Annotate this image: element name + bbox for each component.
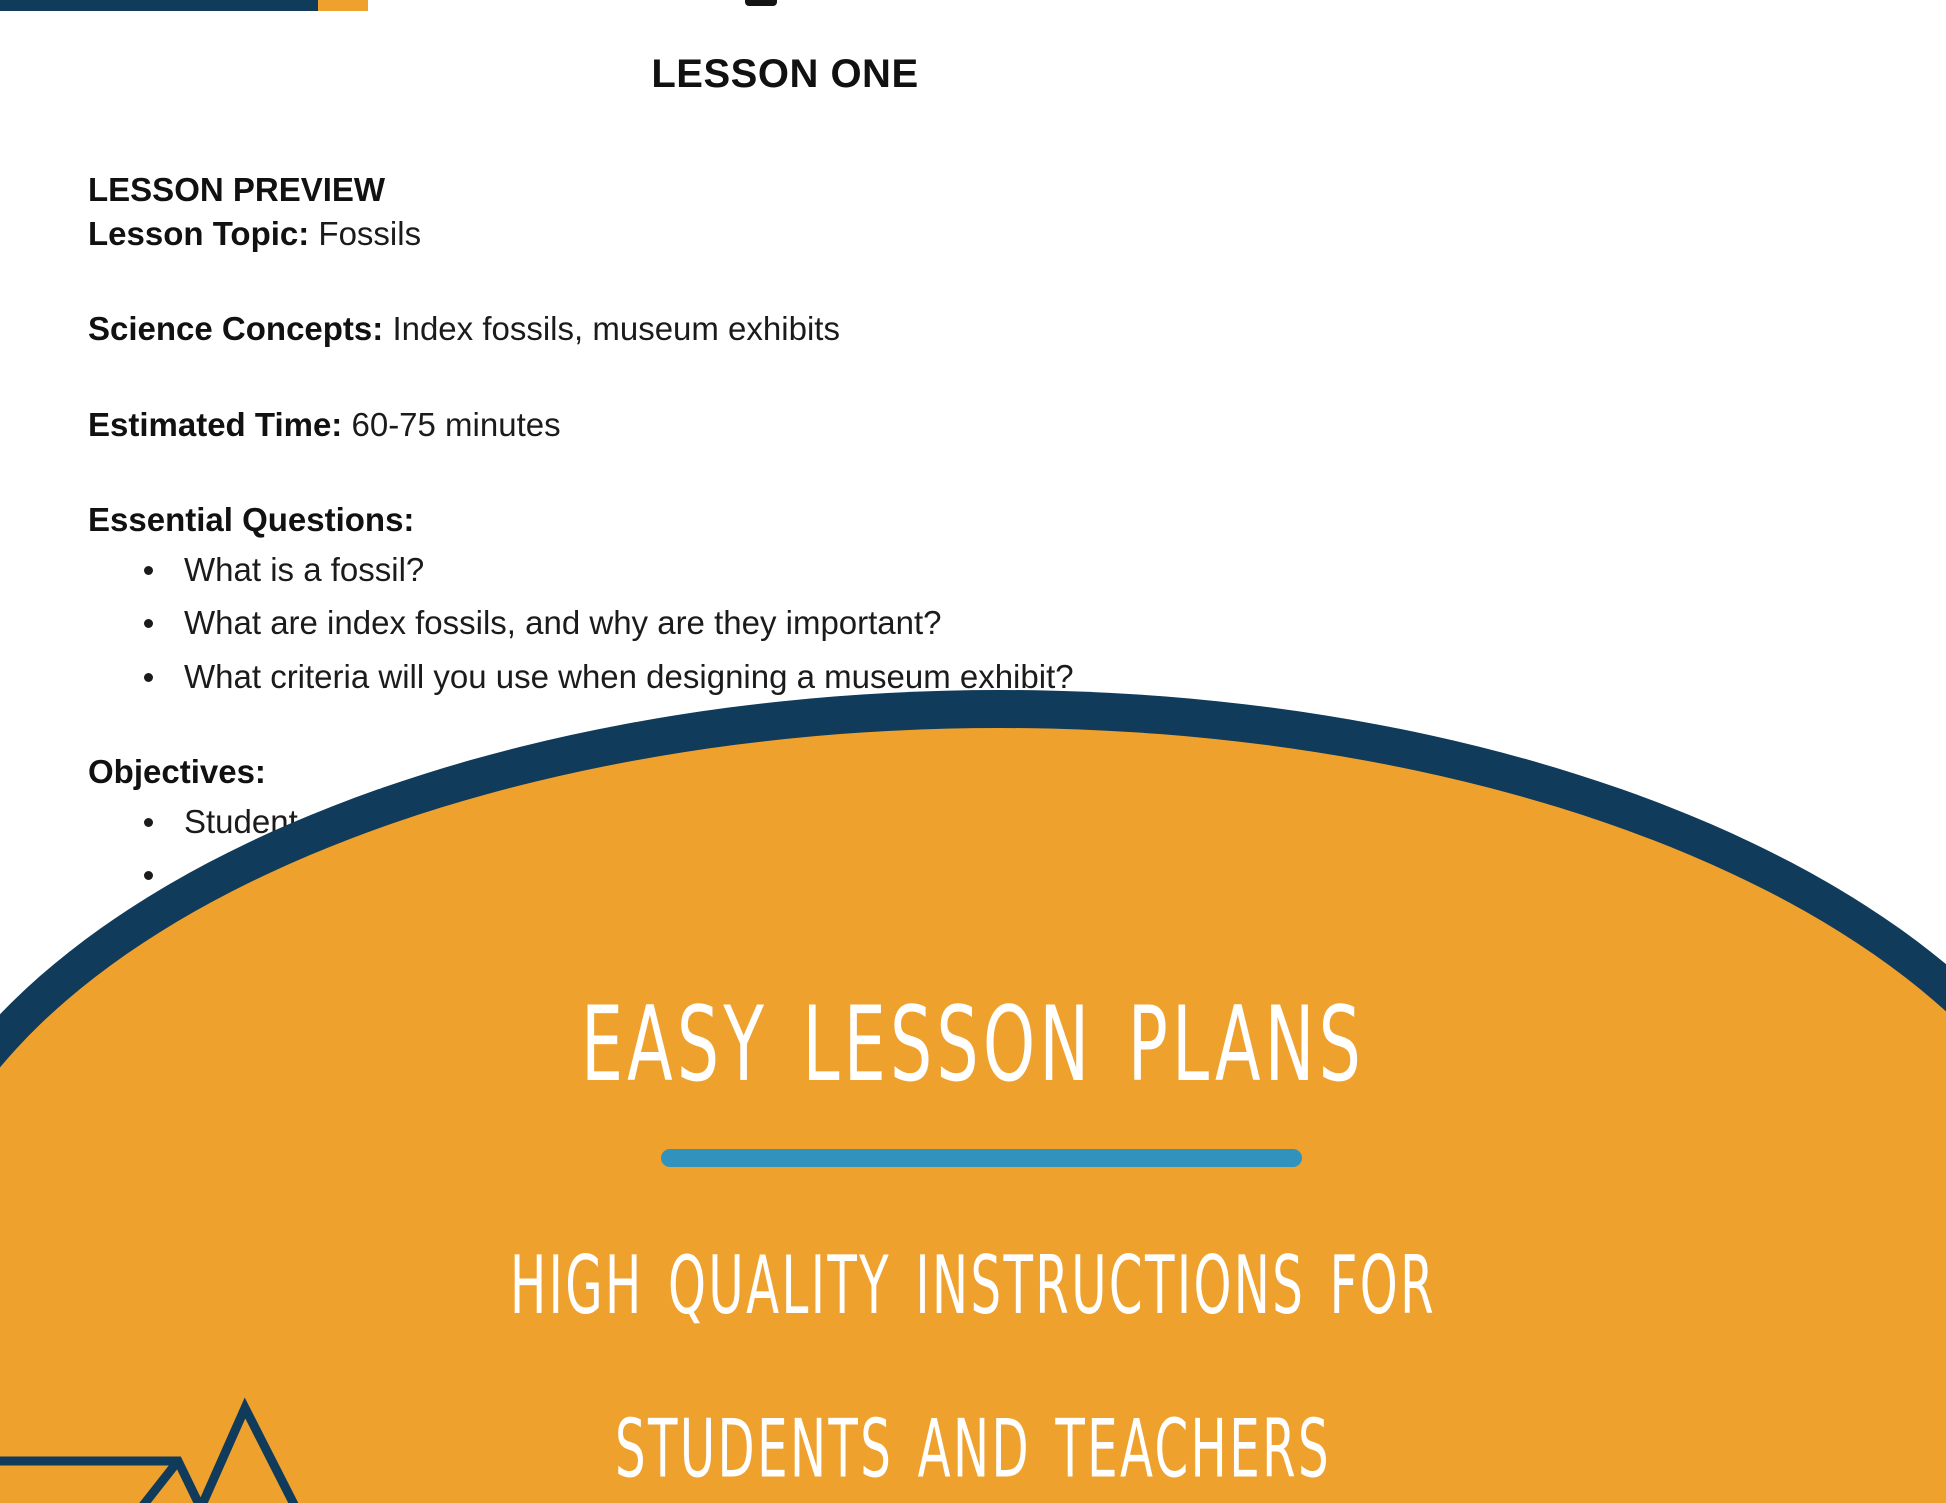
objectives-label: Objectives:: [88, 750, 1488, 794]
objectives-block: Objectives: Student: [88, 750, 1488, 843]
estimated-time-value: 60-75 minutes: [351, 406, 560, 443]
lesson-preview-heading: LESSON PREVIEW: [88, 168, 1488, 212]
essential-questions-label: Essential Questions:: [88, 498, 1488, 542]
science-concepts-label: Science Concepts:: [88, 310, 383, 347]
list-item: What is a fossil?: [136, 548, 1488, 592]
document-body: LESSON PREVIEW Lesson Topic: Fossils Sci…: [88, 168, 1488, 853]
estimated-time-label: Estimated Time:: [88, 406, 342, 443]
lesson-preview-block: LESSON PREVIEW Lesson Topic: Fossils: [88, 168, 1488, 255]
estimated-time-block: Estimated Time: 60-75 minutes: [88, 403, 1488, 447]
list-item: Student: [136, 800, 1488, 844]
lesson-topic-value: Fossils: [318, 215, 421, 252]
objectives-list: Student: [88, 800, 1488, 844]
science-concepts-row: Science Concepts: Index fossils, museum …: [88, 307, 1488, 351]
list-item: What criteria will you use when designin…: [136, 655, 1488, 699]
lesson-topic-label: Lesson Topic:: [88, 215, 309, 252]
science-concepts-block: Science Concepts: Index fossils, museum …: [88, 307, 1488, 351]
essential-questions-block: Essential Questions: What is a fossil? W…: [88, 498, 1488, 698]
list-item: What are index fossils, and why are they…: [136, 601, 1488, 645]
science-concepts-value: Index fossils, museum exhibits: [392, 310, 840, 347]
essential-questions-list: What is a fossil? What are index fossils…: [88, 548, 1488, 699]
lesson-plan-document: LESSON ONE LESSON PREVIEW Lesson Topic: …: [0, 0, 1946, 1503]
page-title: LESSON ONE: [0, 52, 1570, 97]
screenshot-canvas: LESSON ONE LESSON PREVIEW Lesson Topic: …: [0, 0, 1946, 1503]
estimated-time-row: Estimated Time: 60-75 minutes: [88, 403, 1488, 447]
lesson-topic-row: Lesson Topic: Fossils: [88, 212, 1488, 256]
